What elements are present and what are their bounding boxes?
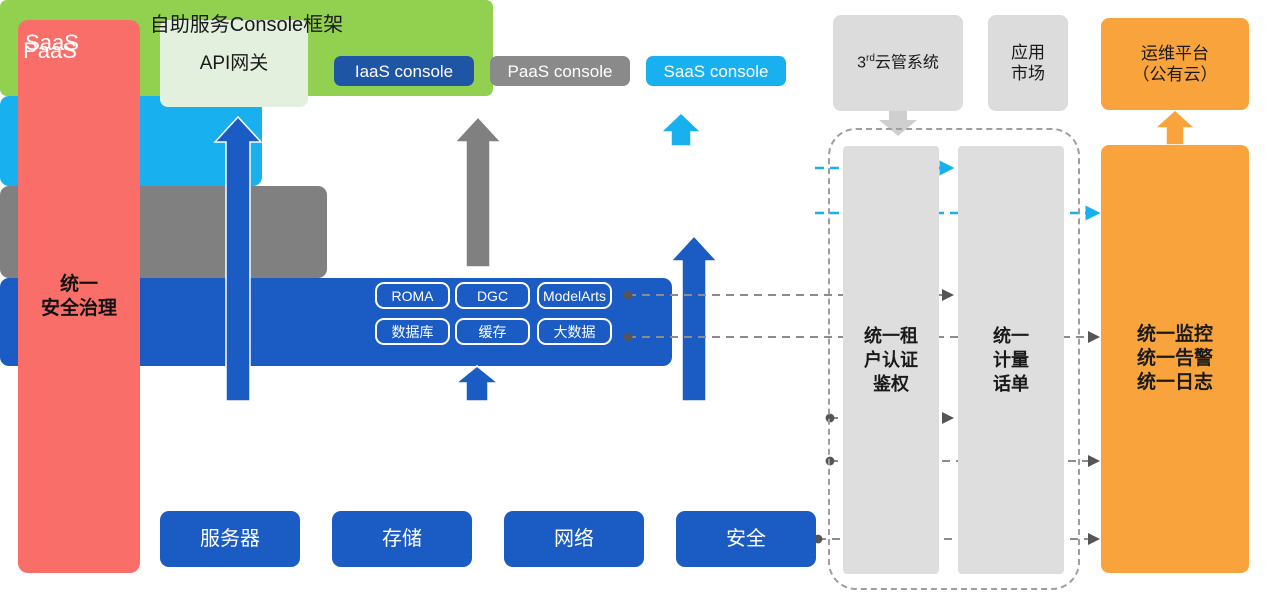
paas-layer-label: PaaS bbox=[10, 38, 90, 64]
paas-item-bigdata[interactable]: 大数据 bbox=[537, 318, 612, 345]
ops-monitoring-alarm-log-panel: 统一监控 统一告警 统一日志 bbox=[1101, 145, 1249, 573]
infra-item-compute[interactable]: Compute bbox=[344, 420, 454, 458]
unified-metering-billing-column: 统一 计量 话单 bbox=[958, 146, 1064, 574]
resource-box-server[interactable]: 服务器 bbox=[160, 511, 300, 567]
paas-item-roma[interactable]: ROMA bbox=[375, 282, 450, 309]
app-market-box: 应用 市场 bbox=[988, 15, 1068, 111]
arrow-infra-to-saas bbox=[671, 236, 717, 401]
paas-console-pill[interactable]: PaaS console bbox=[490, 56, 630, 86]
saas-item-desktop-cloud[interactable]: 桌面云 bbox=[724, 197, 796, 227]
saas-item-blockchain[interactable]: 区块链 bbox=[644, 157, 716, 187]
unified-infrastructure-service-label: 统一基础设施服务 bbox=[172, 424, 332, 444]
third-party-cloud-mgmt-box: 3rd云管系统 bbox=[833, 15, 963, 111]
architecture-diagram: 统一 安全治理 API网关 自助服务Console框架 IaaS console… bbox=[0, 0, 1265, 605]
saas-console-pill[interactable]: SaaS console bbox=[646, 56, 786, 86]
infra-item-network[interactable]: Network bbox=[586, 420, 696, 458]
arrow-infra-to-paas bbox=[456, 366, 498, 401]
paas-item-modelarts[interactable]: ModelArts bbox=[537, 282, 612, 309]
ops-platform-public-cloud-box: 运维平台 （公有云） bbox=[1101, 18, 1249, 110]
resource-box-storage[interactable]: 存储 bbox=[332, 511, 472, 567]
infra-item-cce[interactable]: CCE bbox=[708, 420, 812, 458]
unified-security-governance-panel: 统一 安全治理 bbox=[18, 20, 140, 573]
third-cloud-label: 3rd云管系统 bbox=[857, 53, 939, 73]
saas-item-iot[interactable]: IoT bbox=[724, 157, 796, 187]
arrow-saas-to-saas-console bbox=[661, 113, 701, 146]
saas-item-video-cloud[interactable]: 视频云 bbox=[644, 197, 716, 227]
arrow-ops-column-to-ops-platform bbox=[1155, 110, 1195, 145]
paas-item-cache[interactable]: 缓存 bbox=[455, 318, 530, 345]
unified-tenant-auth-column: 统一租 户认证 鉴权 bbox=[843, 146, 939, 574]
paas-item-database[interactable]: 数据库 bbox=[375, 318, 450, 345]
arrow-paas-to-console bbox=[455, 117, 501, 267]
paas-item-dgc[interactable]: DGC bbox=[455, 282, 530, 309]
infra-item-storage[interactable]: Storage bbox=[466, 420, 574, 458]
resource-box-security[interactable]: 安全 bbox=[676, 511, 816, 567]
resource-box-network[interactable]: 网络 bbox=[504, 511, 644, 567]
iaas-console-pill[interactable]: IaaS console bbox=[334, 56, 474, 86]
